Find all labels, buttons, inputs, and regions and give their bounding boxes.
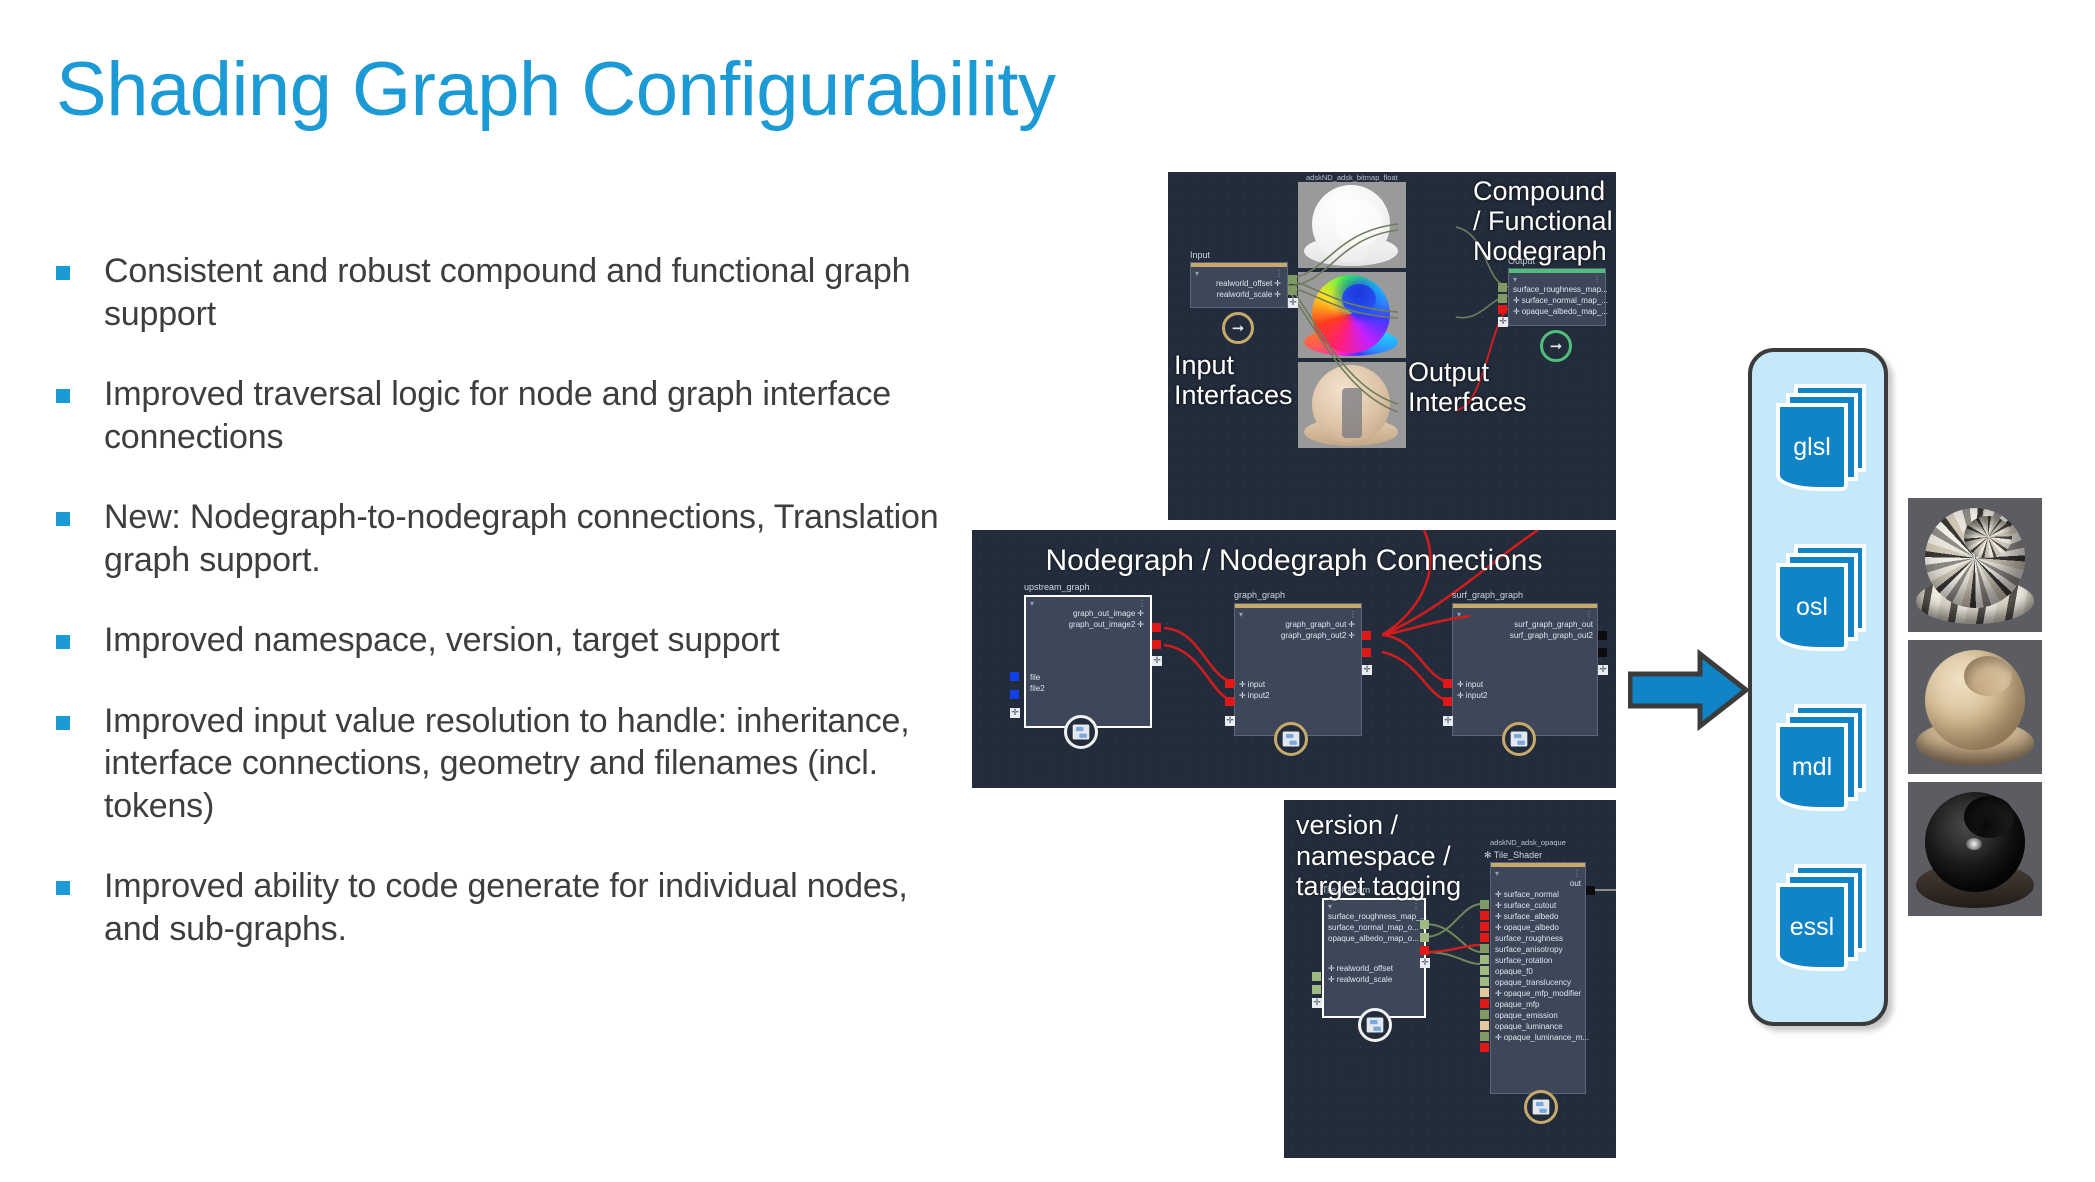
input-node[interactable]: ▾ ⋮ realworld_offset✛ realworld_scale✛ <box>1190 262 1288 308</box>
node-menu-icon[interactable]: ⋮ <box>1275 269 1283 278</box>
bullet-text: Improved namespace, version, target supp… <box>104 619 780 662</box>
input-port[interactable] <box>1443 697 1452 706</box>
input-port[interactable] <box>1225 697 1234 706</box>
specular-highlight <box>1966 838 1982 850</box>
input-port[interactable] <box>1498 294 1507 303</box>
nodegraph-badge[interactable] <box>1502 722 1536 756</box>
node-caption-upstream-graph: upstream_graph <box>1024 582 1090 592</box>
band-overlay <box>1336 200 1382 246</box>
input-port[interactable] <box>1480 1043 1489 1052</box>
list-item: Improved namespace, version, target supp… <box>56 619 956 662</box>
port-label: surface_rotation <box>1495 956 1552 965</box>
callout-compound-nodegraph: Compound / Functional Nodegraph <box>1473 176 1613 267</box>
node-menu-icon[interactable]: ⋮ <box>1349 610 1357 619</box>
output-node[interactable]: ▾ ⋮ surface_roughness_map... ✛surface_no… <box>1508 268 1606 326</box>
inner-cut-geometry <box>1964 656 2012 696</box>
port-plus-icon[interactable]: ✛ <box>1495 923 1502 932</box>
input-port[interactable] <box>1480 1010 1489 1019</box>
input-port[interactable] <box>1498 305 1507 314</box>
add-port-button[interactable]: ✛ <box>1362 665 1372 675</box>
list-item: Improved ability to code generate for in… <box>56 865 956 950</box>
bullet-text: New: Nodegraph-to-nodegraph connections,… <box>104 496 956 581</box>
add-port-button[interactable]: ✛ <box>1010 708 1020 718</box>
port-plus-icon[interactable]: ✛ <box>1495 901 1502 910</box>
bullet-list: Consistent and robust compound and funct… <box>56 250 956 988</box>
port-row[interactable]: graph_graph_out✛ <box>1235 619 1361 630</box>
input-port[interactable] <box>1498 283 1507 292</box>
port-plus-icon[interactable]: ✛ <box>1495 989 1502 998</box>
bullet-square-icon <box>56 635 70 649</box>
collapse-chevron-icon[interactable]: ▾ <box>1195 269 1199 278</box>
port-row[interactable]: ✛surface_cutout <box>1491 900 1585 911</box>
render-preview-sandstone <box>1908 640 2042 774</box>
flow-arrow-icon <box>1628 648 1748 732</box>
input-port[interactable] <box>1480 988 1489 997</box>
input-interface-badge[interactable]: ➞ <box>1222 312 1254 344</box>
input-node-caption: Input <box>1190 250 1210 260</box>
render-preview-glossy-black <box>1908 782 2042 916</box>
port-row[interactable]: realworld_offset✛ <box>1191 278 1287 289</box>
input-port[interactable] <box>1480 1032 1489 1041</box>
port-label: file <box>1030 673 1040 682</box>
bullet-square-icon <box>56 512 70 526</box>
input-port[interactable] <box>1480 955 1489 964</box>
output-port[interactable] <box>1152 640 1161 649</box>
input-port[interactable] <box>1480 933 1489 942</box>
output-port-label: out <box>1570 879 1581 888</box>
shader-doc-stack-glsl[interactable]: glsl <box>1774 384 1870 504</box>
albedo-preview-thumbnail <box>1298 362 1406 448</box>
port-row[interactable]: realworld_scale✛ <box>1191 289 1287 300</box>
nodegraph-icon <box>1365 1015 1385 1035</box>
panel-title: version / namespace / target tagging <box>1296 810 1506 902</box>
collapse-chevron-icon[interactable]: ▾ <box>1457 610 1461 619</box>
bullet-square-icon <box>56 716 70 730</box>
port-plus-icon[interactable]: ✛ <box>1513 307 1520 316</box>
output-port[interactable] <box>1362 648 1371 657</box>
port-row[interactable]: opaque_emission <box>1491 1010 1585 1021</box>
bullet-square-icon <box>56 881 70 895</box>
node-header: ▾ ⋮ <box>1509 273 1605 284</box>
page-title: Shading Graph Configurability <box>56 52 1055 128</box>
port-label: opaque_mfp_modifier <box>1504 989 1581 998</box>
output-port[interactable] <box>1586 886 1595 895</box>
nodegraph-icon <box>1281 729 1301 749</box>
collapse-chevron-icon[interactable]: ▾ <box>1328 902 1332 911</box>
nodegraph-icon <box>1509 729 1529 749</box>
port-label: input2 <box>1248 691 1270 700</box>
port-label: input2 <box>1466 691 1488 700</box>
input-port[interactable] <box>1225 679 1234 688</box>
input-port[interactable] <box>1010 690 1019 699</box>
port-plus-icon[interactable]: ✛ <box>1137 620 1144 629</box>
input-port[interactable] <box>1480 977 1489 986</box>
port-label: realworld_scale <box>1337 975 1393 984</box>
callout-output-interfaces: Output Interfaces <box>1408 357 1528 417</box>
list-item: Consistent and robust compound and funct… <box>56 250 956 335</box>
port-label: surface_roughness <box>1495 934 1563 943</box>
port-label: opaque_albedo_map_o... <box>1328 934 1419 943</box>
input-port[interactable] <box>1480 922 1489 931</box>
shader-language-label: osl <box>1776 563 1848 651</box>
port-label: realworld_scale <box>1217 290 1273 299</box>
shader-doc-stack-osl[interactable]: osl <box>1774 544 1870 664</box>
node-menu-icon[interactable]: ⋮ <box>1573 869 1581 878</box>
output-port[interactable] <box>1420 933 1429 942</box>
output-port[interactable] <box>1420 920 1429 929</box>
port-row[interactable]: graph_out_image✛ <box>1026 608 1150 619</box>
render-preview-tiled-marble <box>1908 498 2042 632</box>
port-plus-icon[interactable]: ✛ <box>1495 912 1502 921</box>
port-plus-icon[interactable]: ✛ <box>1328 975 1335 984</box>
output-port[interactable] <box>1362 631 1371 640</box>
port-plus-icon[interactable]: ✛ <box>1495 1033 1502 1042</box>
port-label: surface_anisotropy <box>1495 945 1563 954</box>
port-row[interactable]: ✛input2 <box>1453 690 1597 701</box>
port-row[interactable]: graph_graph_out2✛ <box>1235 630 1361 641</box>
input-port[interactable] <box>1480 999 1489 1008</box>
shader-language-label: glsl <box>1776 403 1848 491</box>
port-label: surface_albedo <box>1504 912 1559 921</box>
port-plus-icon[interactable]: ✛ <box>1348 631 1355 640</box>
shader-language-label: essl <box>1776 883 1848 971</box>
port-label: file2 <box>1030 684 1045 693</box>
collapse-chevron-icon[interactable]: ▾ <box>1513 275 1517 284</box>
node-header: ▾ ⋮ <box>1235 608 1361 619</box>
bullet-text: Consistent and robust compound and funct… <box>104 250 956 335</box>
node-caption-surf-graph-graph: surf_graph_graph <box>1452 590 1523 600</box>
port-row[interactable]: file2 <box>1026 683 1150 694</box>
band-overlay <box>1342 388 1362 438</box>
port-row[interactable]: surf_graph_graph_out2 <box>1453 630 1597 641</box>
port-row[interactable]: ✛surface_normal_map_... <box>1509 295 1605 306</box>
output-interface-badge[interactable]: ➞ <box>1540 330 1572 362</box>
output-port[interactable] <box>1420 946 1429 955</box>
port-row[interactable]: surf_graph_graph_out <box>1453 619 1597 630</box>
bullet-text: Improved ability to code generate for in… <box>104 865 956 950</box>
port-plus-icon[interactable]: ✛ <box>1239 691 1246 700</box>
port-row[interactable]: surface_roughness_map... <box>1509 284 1605 295</box>
port-row[interactable]: file <box>1026 672 1150 683</box>
node-menu-icon[interactable]: ⋮ <box>1412 902 1420 911</box>
inner-cut-geometry <box>1342 284 1376 314</box>
inner-cut-geometry <box>1964 516 2012 558</box>
port-label: input <box>1466 680 1483 689</box>
port-label: opaque_emission <box>1495 1011 1558 1020</box>
port-label: opaque_albedo_map_... <box>1522 307 1608 316</box>
port-label: graph_graph_out2 <box>1281 631 1346 640</box>
port-row[interactable]: graph_out_image2✛ <box>1026 619 1150 630</box>
port-row[interactable]: opaque_albedo_map_o...✛ <box>1324 933 1424 944</box>
node-header: ▾ ⋮ <box>1324 900 1424 911</box>
add-port-button[interactable]: ✛ <box>1288 298 1298 308</box>
port-label: opaque_luminance <box>1495 1022 1563 1031</box>
port-row[interactable]: surface_normal_map_o...✛ <box>1324 922 1424 933</box>
input-port[interactable] <box>1312 985 1321 994</box>
port-row[interactable]: opaque_luminance <box>1491 1021 1585 1032</box>
port-row[interactable]: ✛opaque_albedo <box>1491 922 1585 933</box>
node-caption-graph-graph: graph_graph <box>1234 590 1285 600</box>
port-label: opaque_luminance_m... <box>1504 1033 1589 1042</box>
list-item: Improved input value resolution to handl… <box>56 700 956 828</box>
port-label: graph_out_image <box>1073 609 1135 618</box>
port-label: surf_graph_graph_out <box>1514 620 1593 629</box>
port-row[interactable]: ✛opaque_luminance_m... <box>1491 1032 1585 1043</box>
bullet-square-icon <box>56 389 70 403</box>
port-row[interactable]: opaque_mfp <box>1491 999 1585 1010</box>
node-label-bitmap-float: adskND_adsk_bitmap_float <box>1306 173 1398 182</box>
output-port[interactable] <box>1288 275 1297 284</box>
input-port[interactable] <box>1010 672 1019 681</box>
port-plus-icon[interactable]: ✛ <box>1457 680 1464 689</box>
bullet-square-icon <box>56 266 70 280</box>
nodegraph-icon <box>1071 722 1091 742</box>
port-label: graph_graph_out <box>1285 620 1346 629</box>
port-label: opaque_mfp <box>1495 1000 1539 1009</box>
input-port[interactable] <box>1480 1021 1489 1030</box>
nodegraph-badge[interactable] <box>1274 722 1308 756</box>
nodegraph-icon <box>1531 1097 1551 1117</box>
port-label: surface_roughness_map... <box>1513 285 1608 294</box>
port-row[interactable]: ✛realworld_offset <box>1324 963 1424 974</box>
collapse-chevron-icon[interactable]: ▾ <box>1239 610 1243 619</box>
node-menu-icon[interactable]: ⋮ <box>1138 599 1146 608</box>
port-row[interactable]: ✛realworld_scale <box>1324 974 1424 985</box>
port-label: realworld_offset <box>1337 964 1393 973</box>
roughness-preview-thumbnail <box>1298 182 1406 268</box>
shader-language-label: mdl <box>1776 723 1848 811</box>
port-row[interactable]: ✛input <box>1453 679 1597 690</box>
port-row[interactable]: surface_anisotropy <box>1491 944 1585 955</box>
port-row[interactable]: opaque_f0 <box>1491 966 1585 977</box>
add-port-button[interactable]: ✛ <box>1312 998 1322 1008</box>
node-header: ▾ ⋮ <box>1191 267 1287 278</box>
port-label: surface_roughness_map_... <box>1328 912 1427 921</box>
node-menu-icon[interactable]: ⋮ <box>1593 275 1601 284</box>
input-port[interactable] <box>1480 911 1489 920</box>
port-row[interactable]: ✛surface_albedo <box>1491 911 1585 922</box>
output-port[interactable] <box>1598 648 1607 657</box>
shader-languages-container: glsl osl mdl essl <box>1748 348 1888 1026</box>
compound-nodegraph-screenshot: Compound / Functional Nodegraph Input In… <box>1168 172 1616 520</box>
tagging-screenshot: version / namespace / target tagging ads… <box>1284 800 1616 1158</box>
collapse-chevron-icon[interactable]: ▾ <box>1030 599 1034 608</box>
port-row[interactable]: surface_roughness <box>1491 933 1585 944</box>
input-port[interactable] <box>1480 944 1489 953</box>
port-label: surface_normal_map_... <box>1522 296 1608 305</box>
port-label: input <box>1248 680 1265 689</box>
port-row[interactable]: surface_roughness_map_... <box>1324 911 1424 922</box>
port-plus-icon[interactable]: ✛ <box>1274 290 1281 299</box>
inner-cut-geometry <box>1964 796 2014 838</box>
port-label: surface_normal_map_o... <box>1328 923 1419 932</box>
nodegraph-badge[interactable] <box>1358 1008 1392 1042</box>
port-row[interactable]: ✛opaque_albedo_map_... <box>1509 306 1605 317</box>
port-plus-icon[interactable]: ✛ <box>1513 296 1520 305</box>
input-port[interactable] <box>1443 679 1452 688</box>
port-plus-icon[interactable]: ✛ <box>1137 609 1144 618</box>
nodegraph-badge[interactable] <box>1524 1090 1558 1124</box>
panel-title: Nodegraph / Nodegraph Connections <box>972 544 1616 578</box>
output-port[interactable] <box>1598 631 1607 640</box>
port-label: surface_cutout <box>1504 901 1556 910</box>
port-row[interactable]: ✛input2 <box>1235 690 1361 701</box>
port-label: surface_normal <box>1504 890 1559 899</box>
shader-doc-stack-essl[interactable]: essl <box>1774 864 1870 984</box>
add-port-button[interactable]: ✛ <box>1598 665 1608 675</box>
list-item: New: Nodegraph-to-nodegraph connections,… <box>56 496 956 581</box>
bullet-text: Improved traversal logic for node and gr… <box>104 373 956 458</box>
normal-map-preview-thumbnail <box>1298 272 1406 358</box>
node-header: ▾ ⋮ <box>1453 608 1597 619</box>
port-plus-icon[interactable]: ✛ <box>1239 680 1246 689</box>
input-port[interactable] <box>1480 966 1489 975</box>
nodegraph-badge[interactable] <box>1064 715 1098 749</box>
port-plus-icon[interactable]: ✛ <box>1457 691 1464 700</box>
node-surf-graph-graph[interactable]: ▾ ⋮ surf_graph_graph_out surf_graph_grap… <box>1452 603 1598 736</box>
bullet-text: Improved input value resolution to handl… <box>104 700 956 828</box>
port-row[interactable]: surface_rotation <box>1491 955 1585 966</box>
port-row[interactable]: ✛opaque_mfp_modifier <box>1491 988 1585 999</box>
port-row[interactable]: opaque_translucency <box>1491 977 1585 988</box>
node-graph-graph[interactable]: ▾ ⋮ graph_graph_out✛ graph_graph_out2✛ ✛… <box>1234 603 1362 736</box>
node-upstream-graph[interactable]: ▾ ⋮ graph_out_image✛ graph_out_image2✛ f… <box>1024 595 1152 728</box>
add-port-button[interactable]: ✛ <box>1225 716 1235 726</box>
list-item: Improved traversal logic for node and gr… <box>56 373 956 458</box>
output-port[interactable] <box>1152 623 1161 632</box>
nodegraph-connections-screenshot: Nodegraph / Nodegraph Connections upstre… <box>972 530 1616 788</box>
port-label: opaque_albedo <box>1504 923 1559 932</box>
port-row[interactable]: ✛input <box>1235 679 1361 690</box>
node-header: ▾ ⋮ <box>1026 597 1150 608</box>
add-port-button[interactable]: ✛ <box>1152 656 1162 666</box>
port-label: opaque_translucency <box>1495 978 1571 987</box>
port-label: surf_graph_graph_out2 <box>1510 631 1593 640</box>
node-menu-icon[interactable]: ⋮ <box>1585 610 1593 619</box>
add-port-button[interactable]: ✛ <box>1498 317 1508 327</box>
callout-input-interfaces: Input Interfaces <box>1174 350 1292 410</box>
port-label: graph_out_image2 <box>1069 620 1136 629</box>
add-port-button[interactable]: ✛ <box>1443 716 1453 726</box>
port-label: realworld_offset <box>1216 279 1272 288</box>
add-port-button[interactable]: ✛ <box>1420 958 1430 968</box>
port-plus-icon[interactable]: ✛ <box>1328 964 1335 973</box>
output-port[interactable] <box>1288 286 1297 295</box>
port-plus-icon[interactable]: ✛ <box>1348 620 1355 629</box>
input-port[interactable] <box>1312 972 1321 981</box>
port-plus-icon[interactable]: ✛ <box>1274 279 1281 288</box>
port-label: opaque_f0 <box>1495 967 1533 976</box>
node-tile-pattern[interactable]: ▾ ⋮ surface_roughness_map_... surface_no… <box>1322 898 1426 1018</box>
shader-doc-stack-mdl[interactable]: mdl <box>1774 704 1870 824</box>
